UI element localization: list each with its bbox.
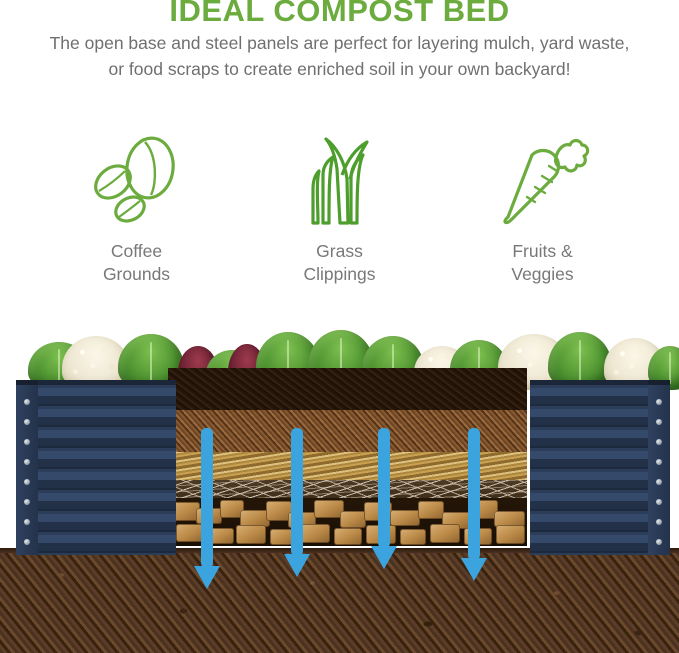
- rivet: [24, 399, 30, 405]
- arrow-stem: [378, 428, 390, 548]
- rivet: [24, 499, 30, 505]
- feature-label-line2: Clippings: [304, 264, 376, 284]
- water-flow-arrow: [375, 428, 393, 548]
- rivet: [24, 419, 30, 425]
- rivet: [656, 399, 662, 405]
- carrot-icon: [494, 132, 592, 230]
- rivet: [656, 539, 662, 545]
- grass-blades-icon: [293, 132, 387, 230]
- coffee-beans-icon: [87, 132, 187, 230]
- corner-post-left: [16, 380, 38, 555]
- arrow-stem: [291, 428, 303, 556]
- water-flow-arrow: [465, 428, 483, 560]
- rivet: [24, 479, 30, 485]
- rivet: [24, 539, 30, 545]
- rivet: [656, 519, 662, 525]
- feature-label: Fruits & Veggies: [511, 240, 573, 287]
- ground-soil: [0, 553, 679, 653]
- rivet: [656, 459, 662, 465]
- feature-label: Grass Clippings: [304, 240, 376, 287]
- water-flow-arrow: [198, 428, 216, 568]
- marketing-page: IDEAL COMPOST BED The open base and stee…: [0, 0, 679, 653]
- feature-label-line1: Coffee: [111, 241, 162, 261]
- steel-panel-right: [530, 380, 670, 555]
- arrow-head: [194, 566, 220, 589]
- feature-label-line1: Fruits &: [512, 241, 572, 261]
- corner-post-right: [648, 380, 670, 555]
- feature-coffee-grounds: Coffee Grounds: [35, 132, 238, 287]
- rivet: [656, 419, 662, 425]
- feature-label-line2: Veggies: [511, 264, 573, 284]
- feature-grass-clippings: Grass Clippings: [238, 132, 441, 287]
- rivet: [656, 439, 662, 445]
- rivet: [656, 479, 662, 485]
- rivet: [656, 499, 662, 505]
- rivet: [24, 439, 30, 445]
- page-subtitle: The open base and steel panels are perfe…: [40, 31, 639, 83]
- arrow-head: [461, 558, 487, 581]
- feature-label: Coffee Grounds: [103, 240, 170, 287]
- rivet: [24, 519, 30, 525]
- arrow-stem: [468, 428, 480, 560]
- feature-label-line1: Grass: [316, 241, 363, 261]
- water-flow-arrow: [288, 428, 306, 556]
- product-photo: [0, 318, 679, 653]
- arrow-stem: [201, 428, 213, 568]
- page-title: IDEAL COMPOST BED: [0, 0, 679, 28]
- steel-panel-left: [16, 380, 176, 555]
- rivet: [24, 459, 30, 465]
- feature-row: Coffee Grounds Grass Clippings: [0, 132, 679, 297]
- feature-label-line2: Grounds: [103, 264, 170, 284]
- arrow-head: [371, 546, 397, 569]
- feature-fruits-veggies: Fruits & Veggies: [441, 132, 644, 287]
- arrow-head: [284, 554, 310, 577]
- layer-topsoil: [168, 368, 527, 410]
